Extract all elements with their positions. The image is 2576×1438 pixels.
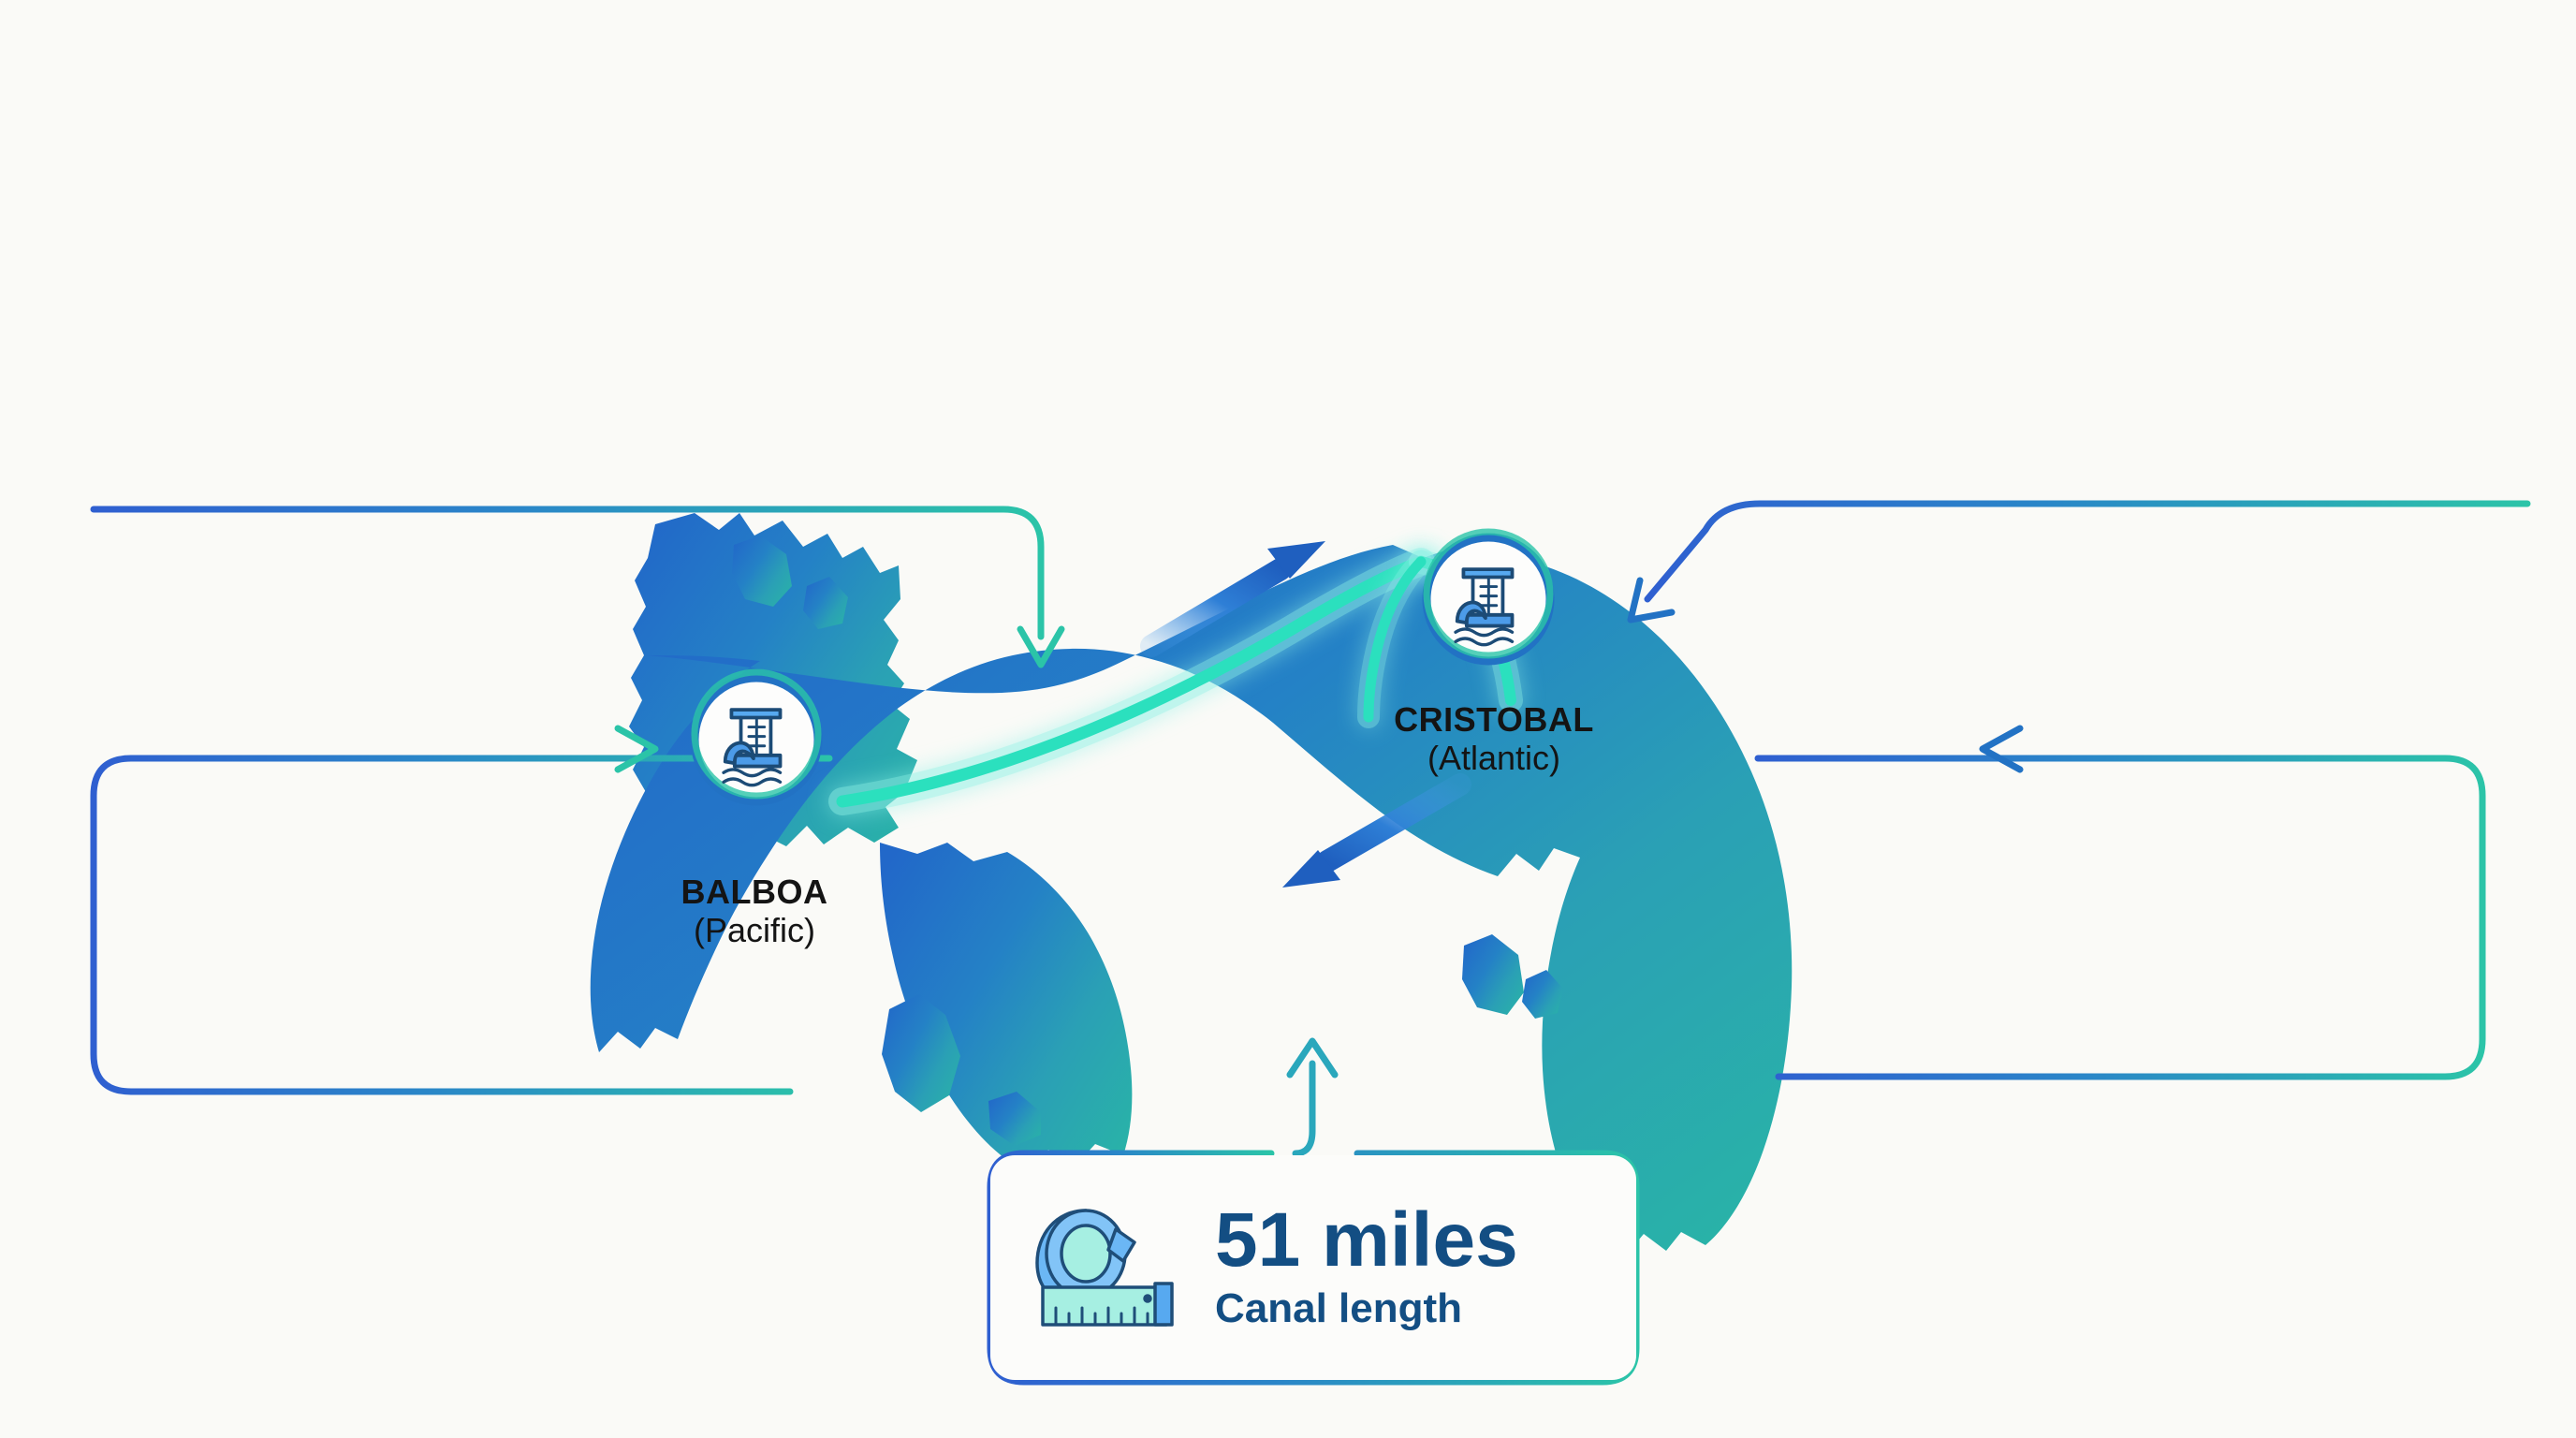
connector-top-left (94, 509, 1061, 665)
port-label-cristobal: CRISTOBAL (Atlantic) (1354, 702, 1634, 778)
port-ocean-cristobal: (Atlantic) (1354, 738, 1634, 778)
stat-label-canal-length: Canal length (1215, 1284, 1518, 1333)
infographic-canvas: PANAMA CANAL STRATEGIC IMPORTANCE (0, 0, 2576, 1438)
connector-top-right (1631, 504, 2527, 620)
stat-card-canal-length: 51 miles Canal length (990, 1155, 1636, 1380)
connector-mid-right (1758, 728, 2482, 1077)
port-name-cristobal: CRISTOBAL (1354, 702, 1634, 738)
port-name-balboa: BALBOA (633, 874, 876, 910)
port-label-balboa: BALBOA (Pacific) (633, 874, 876, 950)
tape-measure-icon (1030, 1197, 1189, 1338)
port-ocean-balboa: (Pacific) (633, 910, 876, 950)
stat-value-canal-length: 51 miles (1215, 1202, 1518, 1279)
